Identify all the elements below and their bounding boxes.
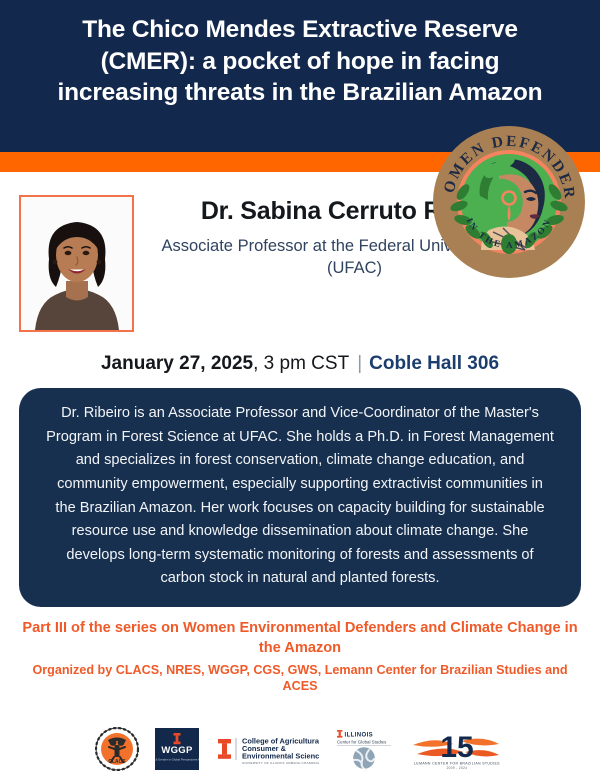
- lemann-center-anniversary-logo: 15 LEMANN CENTER FOR BRAZILIAN STUDIES 2…: [409, 727, 505, 771]
- datetime-venue-separator: |: [357, 353, 362, 374]
- series-organizers: Organized by CLACS, NRES, WGGP, CGS, GWS…: [22, 662, 578, 695]
- event-time: , 3 pm CST: [253, 353, 349, 374]
- wggp-subtitle: Women & Gender in Global Perspectives Pr…: [155, 758, 199, 762]
- speaker-bio-text: Dr. Ribeiro is an Associate Professor an…: [45, 402, 555, 591]
- series-section: Part III of the series on Women Environm…: [0, 619, 600, 695]
- clacs-logo: CLACS: [95, 727, 139, 771]
- lemann-line-2: 2009 - 2024: [447, 766, 468, 770]
- event-date: January 27, 2025: [101, 353, 253, 374]
- event-venue: Coble Hall 306: [369, 353, 499, 374]
- lemann-line-1: LEMANN CENTER FOR BRAZILIAN STUDIES: [414, 762, 500, 766]
- page-title: The Chico Mendes Extractive Reserve (CME…: [42, 10, 558, 109]
- lemann-anniversary-number: 15: [440, 731, 473, 764]
- aces-logo: College of Agricultural, Consumer & Envi…: [215, 731, 319, 767]
- wggp-acronym: WGGP: [161, 745, 193, 756]
- speaker-photo: [19, 195, 134, 332]
- cgs-line-2: Center for Global Studies: [337, 740, 387, 745]
- event-datetime-venue: January 27, 2025, 3 pm CST|Coble Hall 30…: [0, 353, 600, 375]
- series-title: Part III of the series on Women Environm…: [22, 619, 578, 658]
- speaker-bio-box: Dr. Ribeiro is an Associate Professor an…: [19, 388, 581, 607]
- clacs-acronym: CLACS: [108, 759, 126, 765]
- aces-line-3: Environmental Sciences: [242, 752, 319, 761]
- wggp-logo: WGGP Women & Gender in Global Perspectiv…: [155, 728, 199, 770]
- sponsor-logo-strip: CLACS WGGP Women & Gender in Global Pers…: [0, 723, 600, 775]
- women-defenders-badge-logo: WOMEN DEFENDERS IN THE AMAZON: [433, 126, 585, 278]
- center-for-global-studies-logo: ILLINOIS Center for Global Studies: [335, 727, 393, 771]
- aces-line-4: UNIVERSITY OF ILLINOIS URBANA-CHAMPAIGN: [242, 761, 319, 765]
- cgs-line-1: ILLINOIS: [345, 732, 374, 738]
